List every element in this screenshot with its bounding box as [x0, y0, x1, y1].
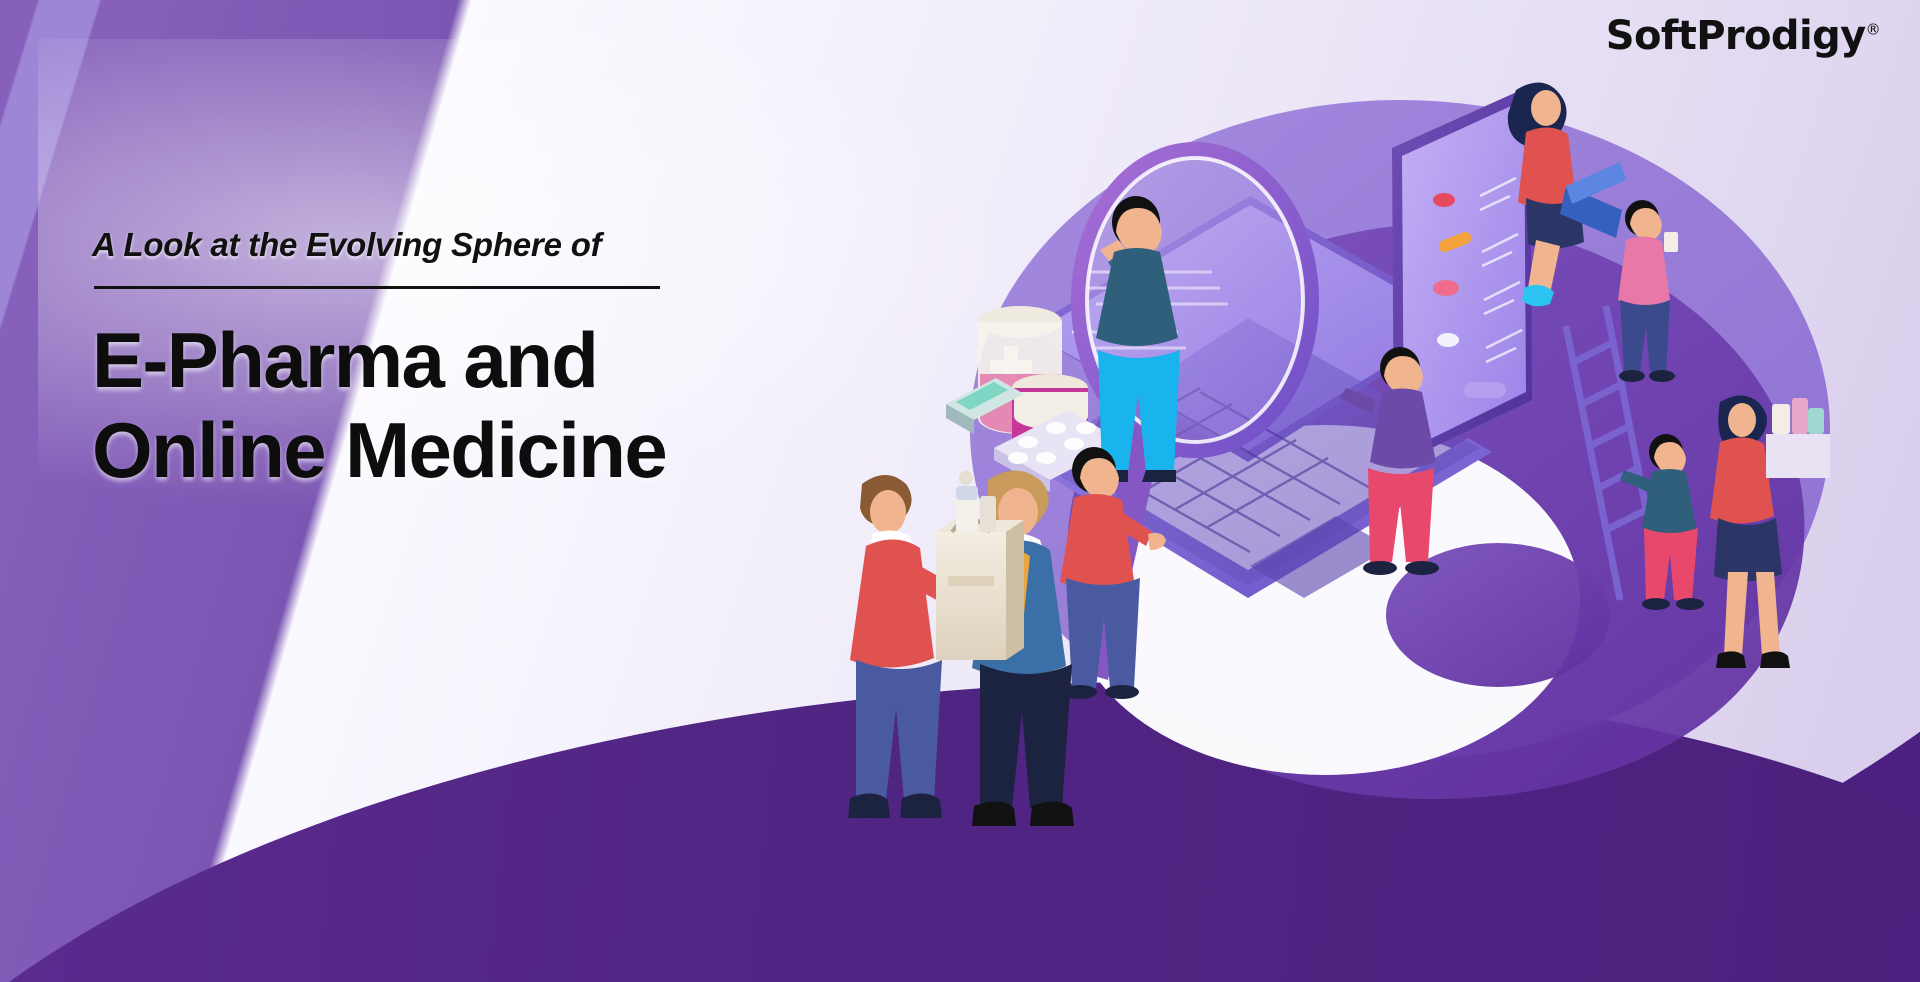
epharmacy-illustration: [780, 0, 1920, 982]
phone-home-button: [1464, 382, 1506, 398]
torso: [850, 539, 934, 667]
medicine-bottles-held: [1766, 398, 1830, 478]
tablet-held: [1664, 232, 1678, 252]
legs: [980, 664, 1072, 808]
woman-carrying-medicine: [1710, 395, 1830, 668]
headline-line-2: Online Medicine: [92, 405, 812, 495]
headline-line-1: E-Pharma and: [92, 315, 812, 405]
torso: [1618, 236, 1670, 306]
headline-block: A Look at the Evolving Sphere of E-Pharm…: [92, 226, 812, 496]
pill-white-icon: [1437, 333, 1459, 347]
torso: [1710, 437, 1774, 523]
headline-kicker: A Look at the Evolving Sphere of: [92, 226, 812, 264]
pill-pink-icon: [1433, 280, 1459, 296]
promo-banner: SoftProdigy® A Look at the Evolving Sphe…: [0, 0, 1920, 982]
headline-divider: [94, 286, 660, 289]
pill-red-icon: [1433, 193, 1455, 207]
legs: [856, 660, 942, 800]
